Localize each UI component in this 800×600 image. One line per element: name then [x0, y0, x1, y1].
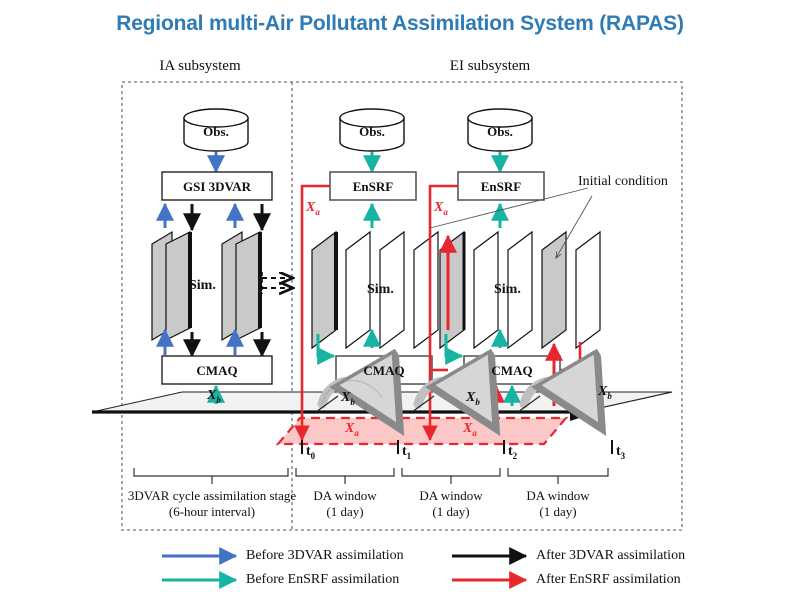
stage-caption-1: DA window (1 day)	[295, 488, 395, 521]
legend-label-before-3dvar: Before 3DVAR assimilation	[246, 548, 404, 564]
ei1-ensrf-box	[330, 172, 416, 200]
ei2-sim-planes	[440, 232, 600, 348]
xa-analysis-plane	[278, 418, 566, 444]
diagram-vector-layer	[0, 0, 800, 600]
diagram-canvas: Regional multi-Air Pollutant Assimilatio…	[0, 0, 800, 600]
stage-caption-1-line2: (1 day)	[295, 504, 395, 520]
stage-caption-3-line2: (1 day)	[508, 504, 608, 520]
stage-caption-3-line1: DA window	[508, 488, 608, 504]
stage-caption-2: DA window (1 day)	[401, 488, 501, 521]
stage-caption-0-line2: (6-hour interval)	[122, 504, 302, 520]
initial-condition-annotation: Initial condition	[578, 174, 668, 190]
ei2-ensrf-box	[458, 172, 544, 200]
ia-sim-plane-2	[222, 232, 260, 340]
ei2-obs-cylinder	[468, 109, 532, 151]
ei1-sim-planes	[312, 232, 438, 348]
arrow-ia-to-ei-dashed	[262, 272, 292, 294]
stage-caption-3: DA window (1 day)	[508, 488, 608, 521]
stage-caption-2-line2: (1 day)	[401, 504, 501, 520]
legend-label-before-ensrf: Before EnSRF assimilation	[246, 572, 399, 588]
stage-caption-1-line1: DA window	[295, 488, 395, 504]
stage-caption-2-line1: DA window	[401, 488, 501, 504]
stage-brackets	[134, 468, 608, 484]
ia-cmaq-box	[162, 356, 272, 384]
ei1-obs-cylinder	[340, 109, 404, 151]
stage-caption-0: 3DVAR cycle assimilation stage (6-hour i…	[122, 488, 302, 521]
stage-caption-0-line1: 3DVAR cycle assimilation stage	[122, 488, 302, 504]
legend-label-after-ensrf: After EnSRF assimilation	[536, 572, 681, 588]
ia-obs-cylinder	[184, 109, 248, 151]
legend-label-after-3dvar: After 3DVAR assimilation	[536, 548, 685, 564]
gsi-3dvar-box	[162, 172, 272, 200]
ia-sim-plane-1	[152, 232, 190, 340]
